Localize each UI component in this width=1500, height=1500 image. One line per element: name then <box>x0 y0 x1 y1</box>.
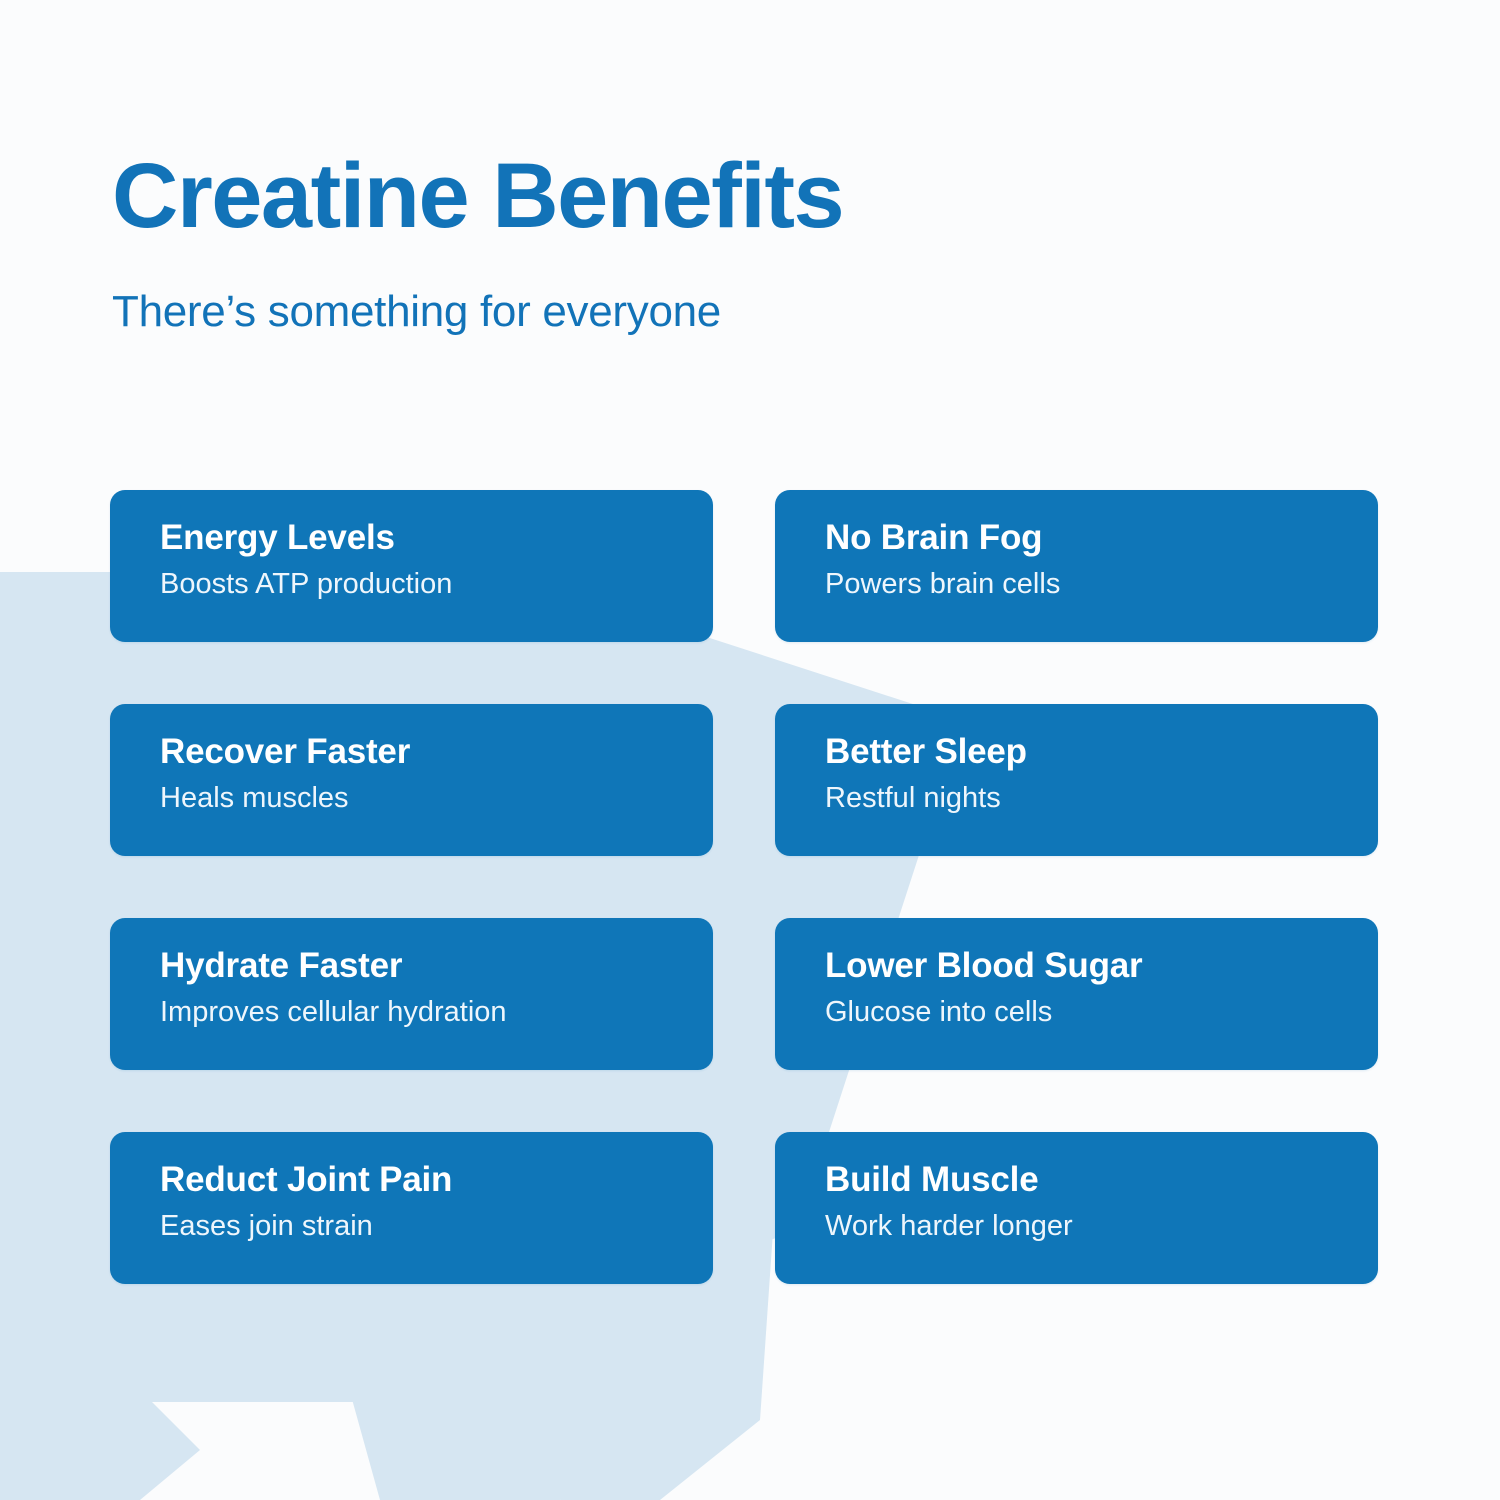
benefit-description: Heals muscles <box>160 771 713 813</box>
page-subtitle: There’s something for everyone <box>112 242 843 334</box>
benefits-grid: Energy Levels Boosts ATP production No B… <box>110 490 1378 1284</box>
benefit-card-hydrate-faster[interactable]: Hydrate Faster Improves cellular hydrati… <box>110 918 713 1070</box>
benefit-title: Lower Blood Sugar <box>825 948 1378 985</box>
benefit-card-recover-faster[interactable]: Recover Faster Heals muscles <box>110 704 713 856</box>
benefit-title: Better Sleep <box>825 734 1378 771</box>
benefit-title: Recover Faster <box>160 734 713 771</box>
benefit-title: Hydrate Faster <box>160 948 713 985</box>
benefit-card-build-muscle[interactable]: Build Muscle Work harder longer <box>775 1132 1378 1284</box>
benefit-title: Energy Levels <box>160 520 713 557</box>
benefit-description: Boosts ATP production <box>160 557 713 599</box>
benefit-description: Work harder longer <box>825 1199 1378 1241</box>
benefit-card-lower-blood-sugar[interactable]: Lower Blood Sugar Glucose into cells <box>775 918 1378 1070</box>
benefit-card-reduct-joint-pain[interactable]: Reduct Joint Pain Eases join strain <box>110 1132 713 1284</box>
infographic-page: Creatine Benefits There’s something for … <box>0 0 1500 1500</box>
benefit-title: No Brain Fog <box>825 520 1378 557</box>
benefit-description: Eases join strain <box>160 1199 713 1241</box>
page-title: Creatine Benefits <box>112 150 843 242</box>
benefit-title: Reduct Joint Pain <box>160 1162 713 1199</box>
benefit-card-no-brain-fog[interactable]: No Brain Fog Powers brain cells <box>775 490 1378 642</box>
benefit-card-energy-levels[interactable]: Energy Levels Boosts ATP production <box>110 490 713 642</box>
benefit-description: Improves cellular hydration <box>160 985 713 1027</box>
benefit-description: Powers brain cells <box>825 557 1378 599</box>
header: Creatine Benefits There’s something for … <box>112 150 843 334</box>
benefit-card-better-sleep[interactable]: Better Sleep Restful nights <box>775 704 1378 856</box>
benefit-title: Build Muscle <box>825 1162 1378 1199</box>
benefit-description: Glucose into cells <box>825 985 1378 1027</box>
benefit-description: Restful nights <box>825 771 1378 813</box>
